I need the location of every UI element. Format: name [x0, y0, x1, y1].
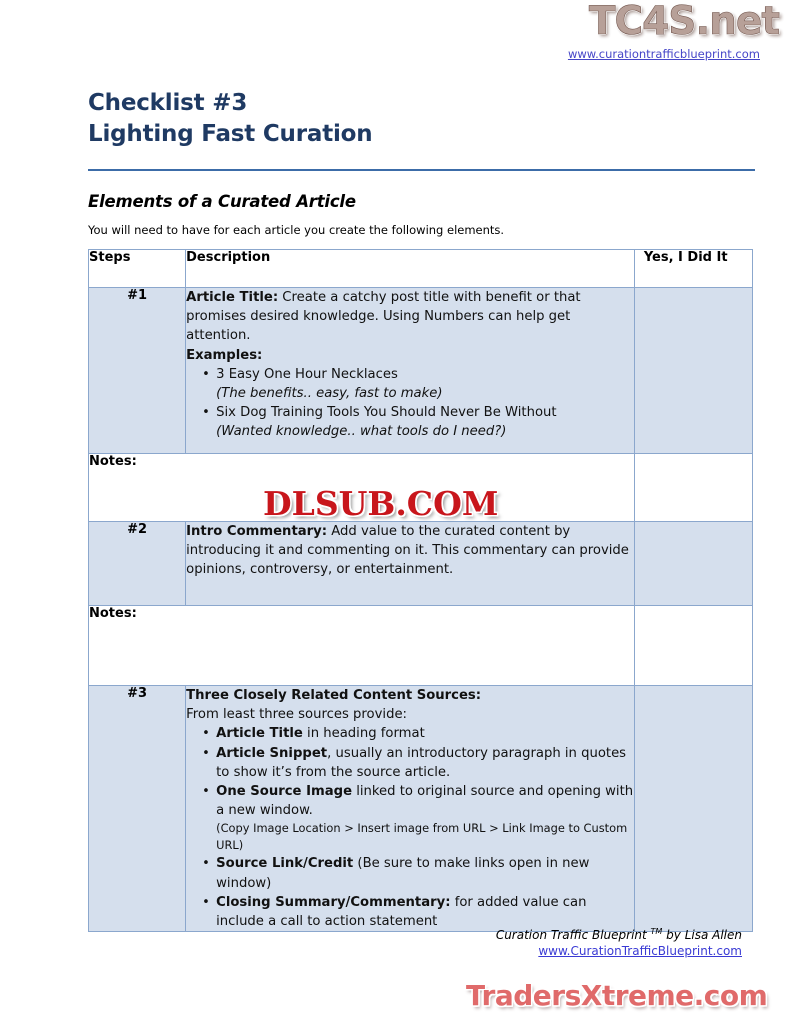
- step-1-title: Article Title:: [186, 290, 278, 305]
- bullet-3-1-rest: in heading format: [303, 726, 425, 741]
- step-number-1: #1: [89, 288, 186, 454]
- table-row: #1 Article Title: Create a catchy post t…: [89, 288, 753, 454]
- page-title-line-1: Checklist #3: [88, 90, 247, 116]
- step-number-2: #2: [89, 522, 186, 606]
- step-description-1: Article Title: Create a catchy post titl…: [186, 288, 635, 454]
- step-3-bullet-list: Article Title in heading format Article …: [186, 724, 634, 931]
- footer-credit-prefix: Curation Traffic Blueprint: [496, 928, 651, 942]
- table-header-row: Steps Description Yes, I Did It: [89, 250, 753, 288]
- tc4s-watermark: TC4S.net: [589, 2, 779, 41]
- bullet-3-2-bold: Article Snippet: [216, 746, 327, 761]
- title-divider: [88, 169, 755, 171]
- yes-checkbox-cell-1[interactable]: [634, 288, 752, 454]
- yes-checkbox-cell-notes-1[interactable]: [634, 454, 752, 522]
- tradersxtreme-watermark: TradersXtreme.com: [466, 982, 767, 1010]
- checklist-table: Steps Description Yes, I Did It #1 Artic…: [88, 249, 753, 932]
- bullet-3-5-bold: Closing Summary/Commentary:: [216, 895, 450, 910]
- section-heading: Elements of a Curated Article: [88, 192, 356, 211]
- notes-label-2: Notes:: [89, 606, 635, 686]
- bullet-3-3-small-note: (Copy Image Location > Insert image from…: [216, 820, 634, 854]
- yes-checkbox-cell-2[interactable]: [634, 522, 752, 606]
- table-row: #3 Three Closely Related Content Sources…: [89, 686, 753, 932]
- list-item: 3 Easy One Hour Necklaces (The benefits.…: [216, 365, 634, 403]
- yes-checkbox-cell-3[interactable]: [634, 686, 752, 932]
- page-title-line-2: Lighting Fast Curation: [88, 119, 688, 150]
- notes-label-1: Notes:: [89, 454, 635, 522]
- footer-credit-suffix: by Lisa Allen: [662, 928, 742, 942]
- column-header-steps: Steps: [89, 250, 186, 288]
- step-description-3: Three Closely Related Content Sources: F…: [186, 686, 635, 932]
- list-item: One Source Image linked to original sour…: [216, 782, 634, 854]
- bullet-3-4-bold: Source Link/Credit: [216, 856, 353, 871]
- step-1-bullet-list: 3 Easy One Hour Necklaces (The benefits.…: [186, 365, 634, 442]
- step-number-3: #3: [89, 686, 186, 932]
- list-item: Six Dog Training Tools You Should Never …: [216, 403, 634, 441]
- notes-row: Notes:: [89, 606, 753, 686]
- page-title: Checklist #3 Lighting Fast Curation: [88, 88, 688, 150]
- bullet-2-main: Six Dog Training Tools You Should Never …: [216, 405, 556, 420]
- step-description-2: Intro Commentary: Add value to the curat…: [186, 522, 635, 606]
- step-3-body: From least three sources provide:: [186, 707, 407, 722]
- intro-text: You will need to have for each article y…: [88, 223, 504, 237]
- bullet-3-3-bold: One Source Image: [216, 784, 352, 799]
- column-header-description: Description: [186, 250, 635, 288]
- bullet-1-main: 3 Easy One Hour Necklaces: [216, 367, 398, 382]
- table-row: #2 Intro Commentary: Add value to the cu…: [89, 522, 753, 606]
- top-url-link[interactable]: www.curationtrafficblueprint.com: [0, 47, 760, 61]
- step-2-title: Intro Commentary:: [186, 524, 327, 539]
- yes-checkbox-cell-notes-2[interactable]: [634, 606, 752, 686]
- bullet-2-sub: (Wanted knowledge.. what tools do I need…: [216, 424, 506, 439]
- step-1-examples-label: Examples:: [186, 348, 262, 363]
- step-3-title: Three Closely Related Content Sources:: [186, 688, 481, 703]
- bullet-3-1-bold: Article Title: [216, 726, 303, 741]
- list-item: Closing Summary/Commentary: for added va…: [216, 893, 634, 931]
- notes-row: Notes:: [89, 454, 753, 522]
- bullet-1-sub: (The benefits.. easy, fast to make): [216, 386, 442, 401]
- footer-trademark: TM: [651, 927, 663, 936]
- list-item: Article Title in heading format: [216, 724, 634, 743]
- footer-url-link[interactable]: www.CurationTrafficBlueprint.com: [0, 944, 742, 958]
- column-header-yes-i-did-it: Yes, I Did It: [634, 250, 752, 288]
- page-footer: Curation Traffic Blueprint TM by Lisa Al…: [0, 927, 742, 958]
- footer-credit: Curation Traffic Blueprint TM by Lisa Al…: [0, 927, 742, 942]
- list-item: Source Link/Credit (Be sure to make link…: [216, 854, 634, 892]
- list-item: Article Snippet, usually an introductory…: [216, 744, 634, 782]
